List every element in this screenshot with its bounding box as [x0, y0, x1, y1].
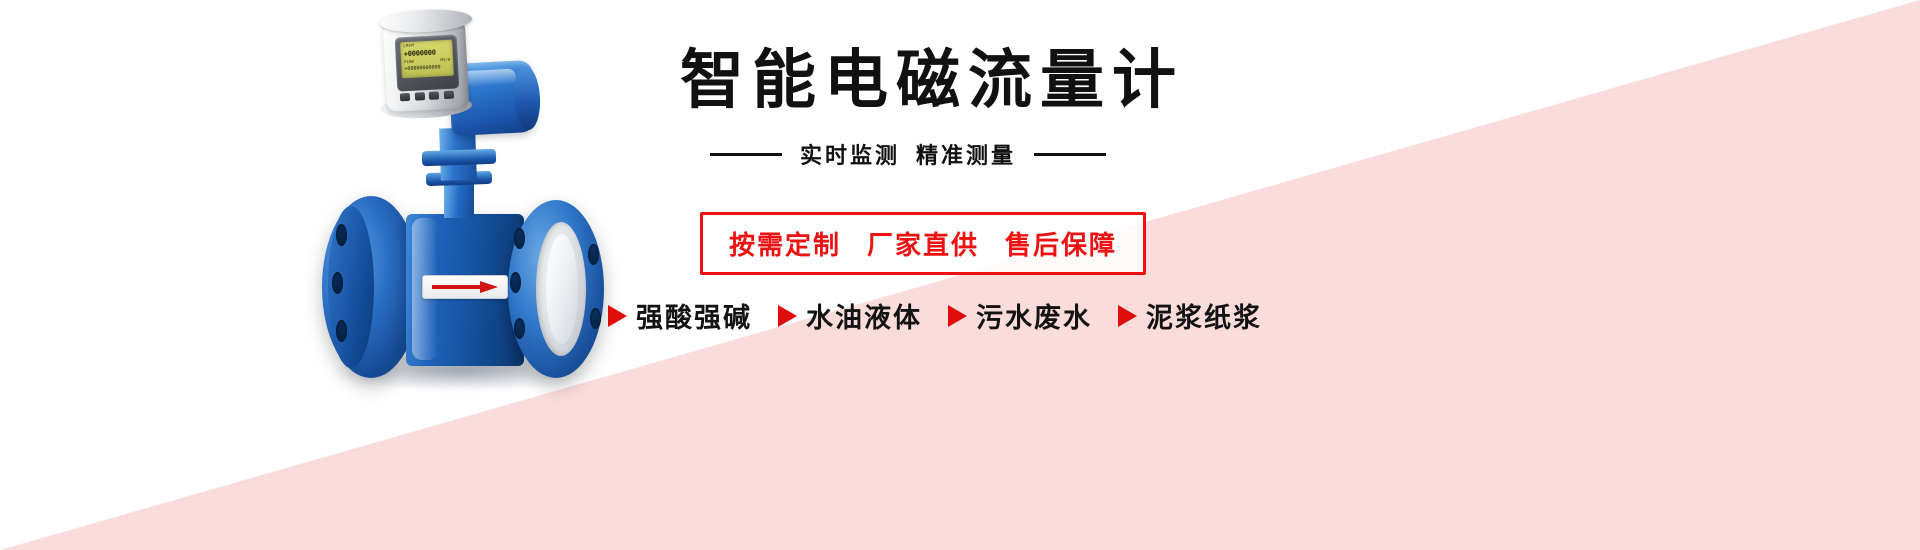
keypad-key-2[interactable] — [414, 92, 424, 101]
badge-item-custom: 按需定制 — [729, 230, 841, 260]
service-badge-box: 按需定制厂家直供售后保障 — [700, 212, 1146, 275]
feature-list: 强酸强碱 水油液体 污水废水 泥浆纸浆 — [608, 296, 1262, 335]
subtitle-left-text: 实时监测 — [800, 143, 900, 168]
display-brand: LMFM — [403, 43, 414, 49]
flange-bolt-hole — [514, 318, 525, 339]
keypad-key-1[interactable] — [400, 93, 410, 102]
riser-flange-upper — [422, 149, 496, 167]
subtitle-rule-left — [710, 153, 782, 156]
flow-arrow-plate — [422, 275, 508, 299]
flange-bolt-hole — [332, 272, 343, 294]
flange-bolt-hole — [514, 228, 525, 249]
banner-title: 智能电磁流量计 — [680, 48, 1184, 112]
flange-bolt-hole — [336, 224, 347, 246]
subtitle-rule-right — [1034, 153, 1106, 156]
product-image: LMFM +0000000 FLOW M3/H +00000000000 — [300, 0, 640, 470]
triangle-right-icon — [778, 305, 797, 327]
subtitle-right-text: 精准测量 — [916, 143, 1016, 168]
feature-label: 水油液体 — [806, 296, 922, 335]
feature-item: 强酸强碱 — [608, 296, 752, 335]
banner-subtitle: 实时监测精准测量 — [800, 138, 1016, 170]
flange-bolt-hole — [588, 244, 599, 265]
display-total-reading: +00000000000 — [404, 64, 440, 72]
display-unit-left: FLOW — [404, 59, 414, 64]
riser-lower — [444, 182, 474, 218]
feature-item: 水油液体 — [778, 296, 922, 335]
right-flange-liner — [546, 234, 578, 344]
badge-item-warranty: 售后保障 — [1005, 230, 1117, 260]
feature-item: 泥浆纸浆 — [1118, 296, 1262, 335]
feature-item: 污水废水 — [948, 296, 1092, 335]
triangle-right-icon — [948, 305, 967, 327]
triangle-right-icon — [608, 305, 627, 327]
product-banner: LMFM +0000000 FLOW M3/H +00000000000 智能电… — [0, 0, 1920, 550]
display-main-reading: +0000000 — [404, 49, 436, 59]
flange-bolt-hole — [336, 320, 347, 342]
flow-direction-arrow-icon — [432, 281, 498, 293]
keypad-key-3[interactable] — [429, 91, 439, 100]
banner-content: 智能电磁流量计 实时监测精准测量 按需定制厂家直供售后保障 强酸强碱 水油液体 … — [600, 0, 1920, 550]
flange-bolt-hole — [510, 272, 521, 293]
feature-label: 泥浆纸浆 — [1146, 296, 1262, 335]
display-unit-right: M3/H — [440, 57, 450, 62]
badge-item-factory: 厂家直供 — [867, 230, 979, 260]
triangle-right-icon — [1118, 305, 1137, 327]
feature-label: 强酸强碱 — [636, 296, 752, 335]
keypad-key-4[interactable] — [444, 91, 454, 100]
lcd-display: LMFM +0000000 FLOW M3/H +00000000000 — [400, 40, 454, 79]
feature-label: 污水废水 — [976, 296, 1092, 335]
banner-subtitle-row: 实时监测精准测量 — [710, 138, 1106, 170]
